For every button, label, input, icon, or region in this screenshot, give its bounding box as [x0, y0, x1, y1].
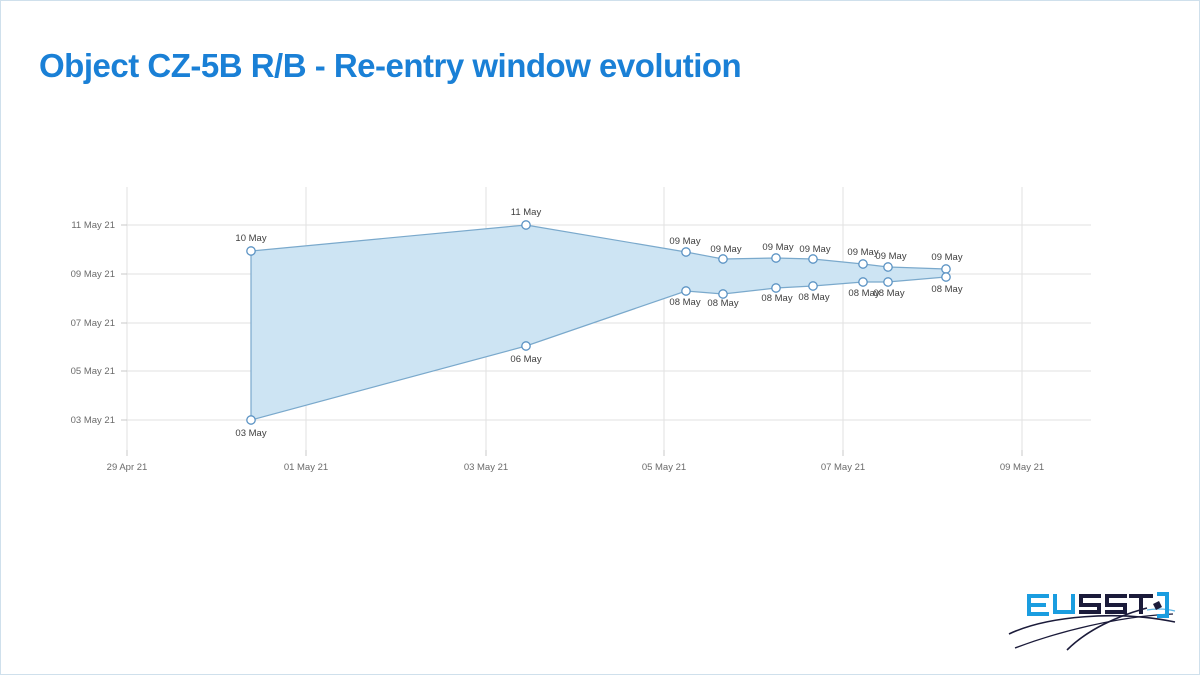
y-tick-label: 09 May 21 — [71, 269, 115, 280]
point-label: 08 May — [873, 288, 904, 299]
data-point[interactable] — [522, 342, 530, 350]
point-label: 09 May — [669, 236, 700, 247]
eusst-logo — [1007, 582, 1177, 652]
data-point[interactable] — [772, 254, 780, 262]
y-axis-tick-labels: 11 May 21 09 May 21 07 May 21 05 May 21 … — [71, 220, 115, 426]
y-tick-label: 11 May 21 — [71, 220, 115, 231]
data-point[interactable] — [719, 255, 727, 263]
x-axis-tick-labels: 29 Apr 21 01 May 21 03 May 21 05 May 21 … — [107, 462, 1045, 473]
data-point[interactable] — [942, 273, 950, 281]
point-label: 09 May — [762, 242, 793, 253]
data-point[interactable] — [884, 278, 892, 286]
x-tick-label: 03 May 21 — [464, 462, 508, 473]
data-point[interactable] — [859, 260, 867, 268]
reentry-window-chart: 10 May 11 May 09 May 09 May 09 May 09 Ma… — [1, 1, 1200, 501]
y-tick-label: 07 May 21 — [71, 318, 115, 329]
point-label: 06 May — [510, 354, 541, 365]
chart-svg: 10 May 11 May 09 May 09 May 09 May 09 Ma… — [1, 1, 1200, 501]
point-label: 09 May — [847, 247, 878, 258]
x-tick-label: 07 May 21 — [821, 462, 865, 473]
x-tick-label: 29 Apr 21 — [107, 462, 148, 473]
x-tick-label: 01 May 21 — [284, 462, 328, 473]
point-label: 08 May — [798, 292, 829, 303]
data-point[interactable] — [522, 221, 530, 229]
data-point[interactable] — [247, 416, 255, 424]
data-point[interactable] — [682, 248, 690, 256]
point-label: 09 May — [799, 244, 830, 255]
data-point[interactable] — [942, 265, 950, 273]
data-point[interactable] — [809, 282, 817, 290]
data-point[interactable] — [859, 278, 867, 286]
point-label: 09 May — [875, 251, 906, 262]
x-tick-label: 05 May 21 — [642, 462, 686, 473]
point-label: 08 May — [707, 298, 738, 309]
point-label: 08 May — [931, 284, 962, 295]
data-point[interactable] — [682, 287, 690, 295]
point-label: 09 May — [931, 252, 962, 263]
data-point[interactable] — [884, 263, 892, 271]
point-label: 08 May — [669, 297, 700, 308]
x-tick-label: 09 May 21 — [1000, 462, 1044, 473]
point-label: 03 May — [235, 428, 266, 439]
data-point[interactable] — [772, 284, 780, 292]
data-point[interactable] — [809, 255, 817, 263]
point-label: 10 May — [235, 233, 266, 244]
point-label: 11 May — [511, 207, 542, 218]
slide: Object CZ-5B R/B - Re-entry window evolu… — [0, 0, 1200, 675]
y-tick-label: 03 May 21 — [71, 415, 115, 426]
data-point[interactable] — [247, 247, 255, 255]
point-label: 09 May — [710, 244, 741, 255]
logo-wordmark — [1027, 592, 1169, 618]
data-point[interactable] — [719, 290, 727, 298]
point-label: 08 May — [761, 293, 792, 304]
y-tick-label: 05 May 21 — [71, 366, 115, 377]
